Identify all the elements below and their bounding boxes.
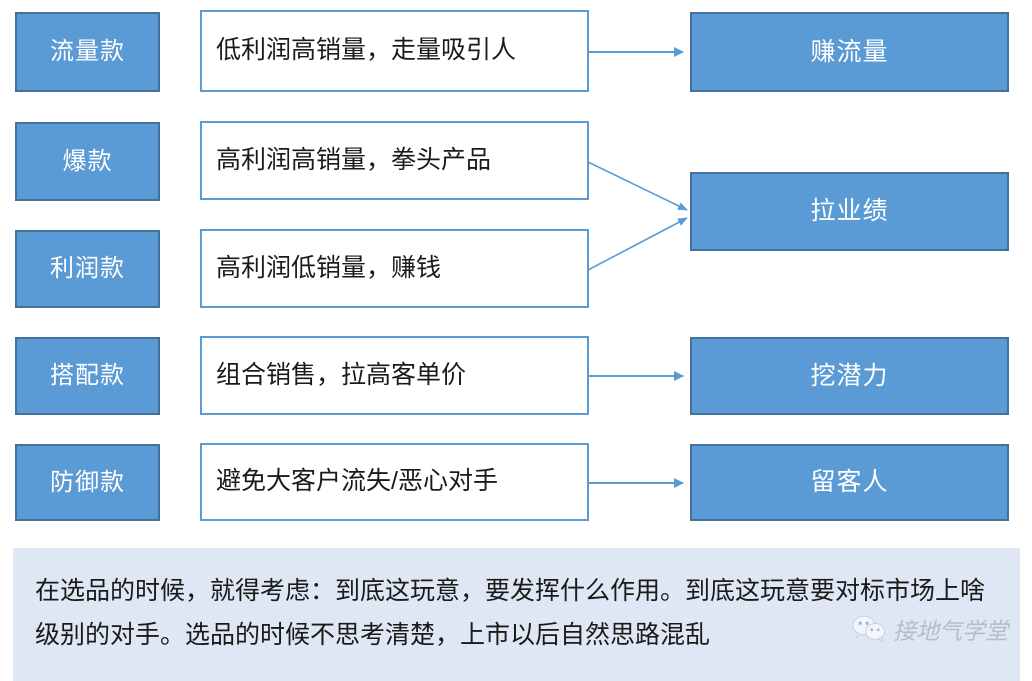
- category-label-3: 利润款: [50, 257, 125, 281]
- arrow-diagonal-icon-3: [588, 218, 687, 270]
- arrow-converging-icon-group: [588, 160, 696, 310]
- category-box-2[interactable]: 爆款: [15, 122, 160, 201]
- outcome-box-1[interactable]: 赚流量: [690, 12, 1009, 92]
- diagram-canvas: 流量款 低利润高销量，走量吸引人 赚流量 爆款 高利润高销量，拳头产品 利润款 …: [0, 0, 1032, 681]
- description-label-5: 避免大客户流失/恶心对手: [216, 468, 498, 496]
- arrow-right-icon-4: [589, 375, 683, 377]
- category-box-1[interactable]: 流量款: [15, 12, 160, 92]
- outcome-box-3[interactable]: 挖潜力: [690, 337, 1009, 415]
- category-box-5[interactable]: 防御款: [15, 444, 160, 521]
- category-label-1: 流量款: [50, 40, 125, 64]
- outcome-box-2[interactable]: 拉业绩: [690, 172, 1009, 251]
- category-label-4: 搭配款: [50, 364, 125, 388]
- description-label-3: 高利润低销量，赚钱: [216, 255, 441, 283]
- arrow-diagonal-icon-2: [588, 162, 687, 210]
- category-label-5: 防御款: [50, 471, 125, 495]
- outcome-label-3: 挖潜力: [810, 364, 888, 389]
- arrow-right-icon-1: [589, 51, 683, 53]
- description-label-1: 低利润高销量，走量吸引人: [216, 37, 516, 65]
- category-box-4[interactable]: 搭配款: [15, 337, 160, 415]
- note-text: 在选品的时候，就得考虑：到底这玩意，要发挥什么作用。到底这玩意要对标市场上啥级别…: [35, 570, 1002, 658]
- description-label-2: 高利润高销量，拳头产品: [216, 147, 491, 175]
- description-label-4: 组合销售，拉高客单价: [216, 362, 466, 390]
- description-box-5[interactable]: 避免大客户流失/恶心对手: [200, 443, 589, 521]
- outcome-label-4: 留客人: [810, 470, 888, 495]
- category-box-3[interactable]: 利润款: [15, 230, 160, 308]
- description-box-4[interactable]: 组合销售，拉高客单价: [200, 336, 589, 415]
- category-label-2: 爆款: [63, 150, 113, 174]
- arrow-right-icon-5: [589, 482, 683, 484]
- outcome-label-2: 拉业绩: [810, 199, 888, 224]
- outcome-label-1: 赚流量: [810, 40, 888, 65]
- outcome-box-4[interactable]: 留客人: [690, 444, 1009, 521]
- description-box-1[interactable]: 低利润高销量，走量吸引人: [200, 10, 589, 92]
- description-box-3[interactable]: 高利润低销量，赚钱: [200, 229, 589, 308]
- description-box-2[interactable]: 高利润高销量，拳头产品: [200, 121, 589, 200]
- note-block: 在选品的时候，就得考虑：到底这玩意，要发挥什么作用。到底这玩意要对标市场上啥级别…: [13, 548, 1020, 681]
